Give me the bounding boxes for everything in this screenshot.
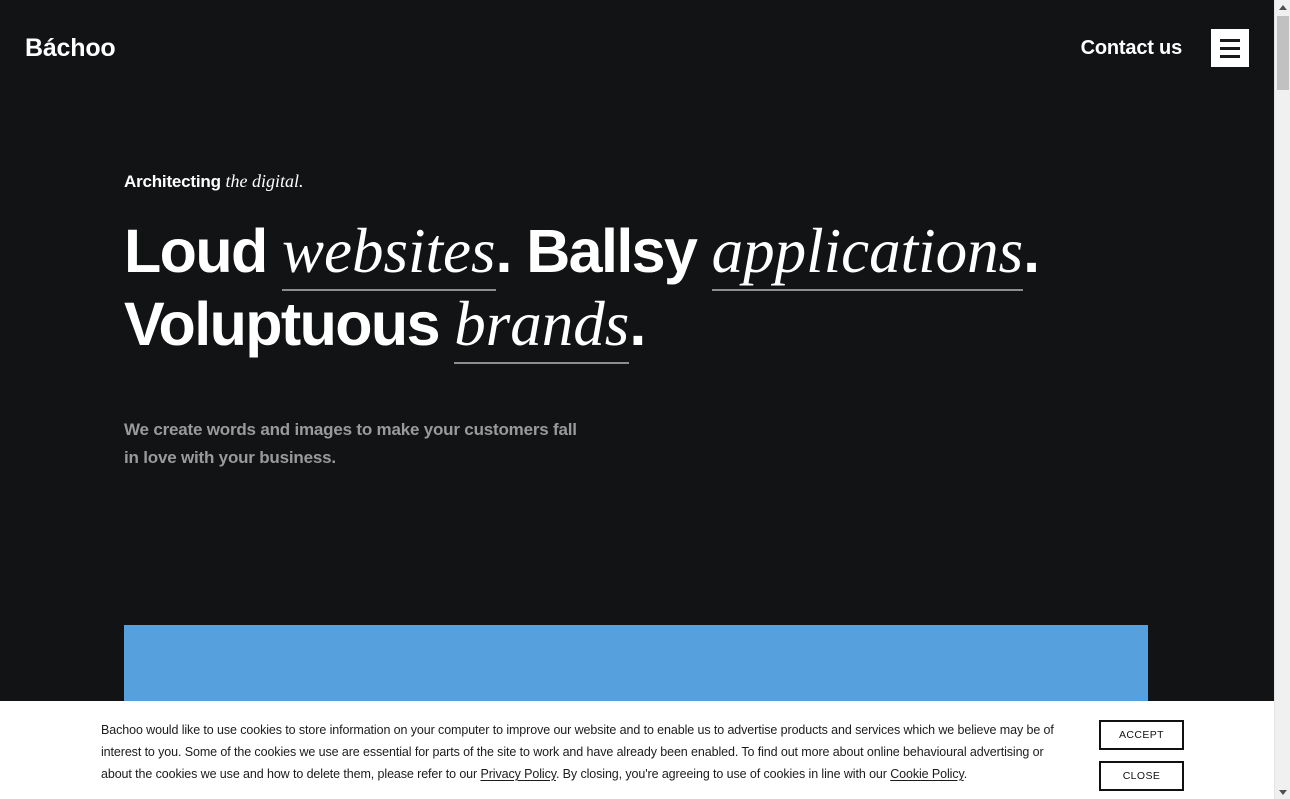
- cookie-consent-banner: Bachoo would like to use cookies to stor…: [0, 701, 1274, 799]
- contact-us-link[interactable]: Contact us: [1081, 37, 1182, 60]
- hamburger-menu-icon[interactable]: [1211, 29, 1249, 67]
- hero-eyebrow-italic: the digital.: [226, 171, 304, 191]
- cookie-text-part-3: .: [964, 767, 967, 781]
- headline-line-2: Voluptuous brands.: [124, 288, 1184, 360]
- privacy-policy-link[interactable]: Privacy Policy: [480, 767, 555, 781]
- headline-emphasis-websites: websites: [282, 216, 496, 291]
- hero-eyebrow-bold: Architecting: [124, 172, 221, 191]
- headline-line-1: Loud websites. Ballsy applications.: [124, 215, 1184, 287]
- headline-emphasis-brands: brands: [454, 289, 629, 364]
- headline-text-voluptuous: Voluptuous: [124, 290, 454, 358]
- hero-section: Architecting the digital. Loud websites.…: [124, 170, 1184, 472]
- accept-cookies-button[interactable]: ACCEPT: [1099, 720, 1184, 750]
- menu-bar-3: [1220, 55, 1240, 58]
- browser-scrollbar[interactable]: [1274, 0, 1290, 799]
- scrollbar-thumb[interactable]: [1277, 16, 1289, 90]
- menu-bar-2: [1220, 47, 1240, 50]
- site-header: Báchoo Contact us: [0, 0, 1274, 96]
- headline-period-2: .: [629, 290, 644, 358]
- headline-emphasis-applications: applications: [712, 216, 1024, 291]
- header-nav: Contact us: [1081, 29, 1249, 67]
- cookie-policy-link[interactable]: Cookie Policy: [890, 767, 964, 781]
- headline-text-ballsy: . Ballsy: [496, 217, 712, 285]
- scroll-up-arrow-icon[interactable]: [1275, 0, 1290, 14]
- page-title: Loud websites. Ballsy applications. Volu…: [124, 215, 1184, 360]
- brand-logo[interactable]: Báchoo: [25, 36, 115, 61]
- cookie-text-part-2: . By closing, you're agreeing to use of …: [556, 767, 890, 781]
- hero-subtext: We create words and images to make your …: [124, 416, 594, 472]
- hero-eyebrow: Architecting the digital.: [124, 170, 1184, 193]
- headline-text-loud: Loud: [124, 217, 282, 285]
- cookie-banner-actions: ACCEPT CLOSE: [1099, 719, 1184, 791]
- menu-bar-1: [1220, 39, 1240, 42]
- cookie-banner-text: Bachoo would like to use cookies to stor…: [101, 719, 1073, 785]
- page-viewport: Báchoo Contact us Architecting the digit…: [0, 0, 1274, 799]
- scroll-down-arrow-icon[interactable]: [1275, 785, 1290, 799]
- close-cookies-button[interactable]: CLOSE: [1099, 761, 1184, 791]
- headline-period-1: .: [1023, 217, 1038, 285]
